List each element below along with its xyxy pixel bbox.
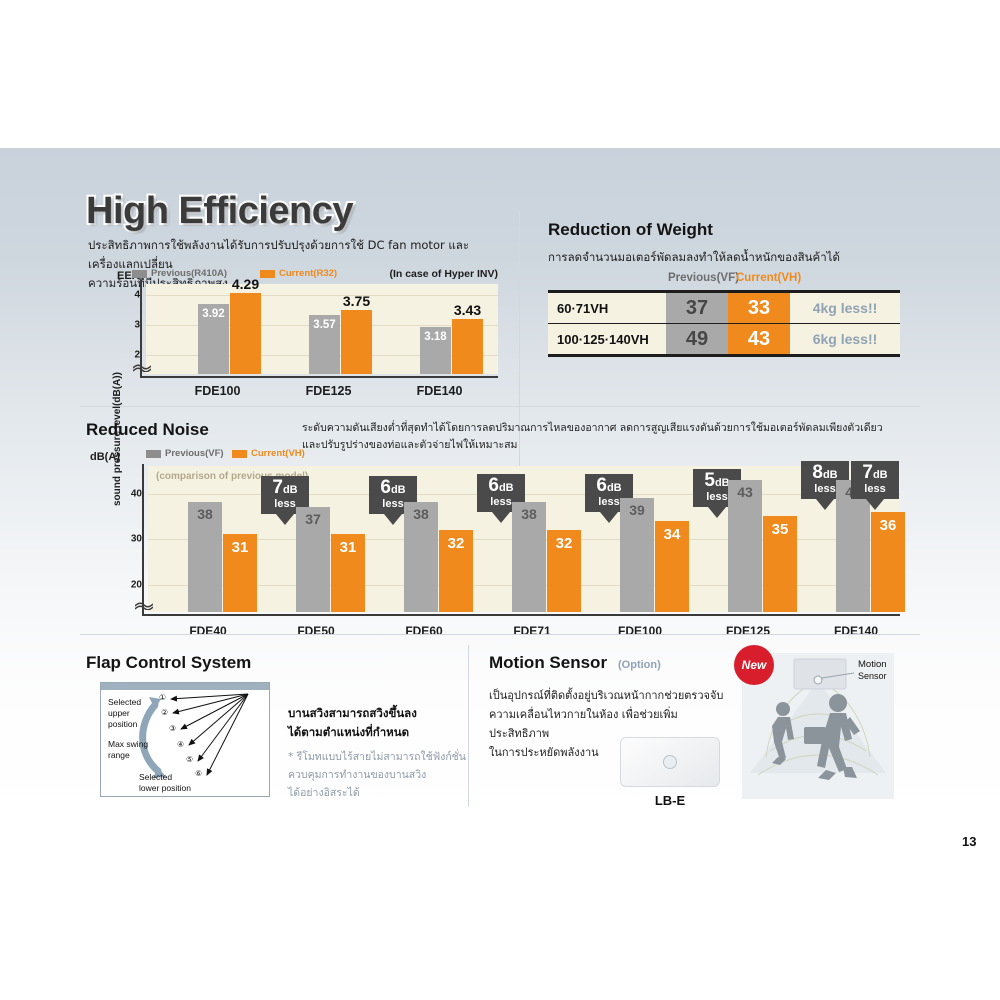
weight-model: 60·71VH — [548, 292, 666, 324]
weight-header-current: Current(VH) — [736, 272, 801, 284]
section-title-reduced-noise: Reduced Noise — [86, 420, 209, 440]
noise-bar-previous: 39 — [620, 498, 654, 612]
sensor-lens-icon — [663, 755, 677, 769]
badge-value: 8 — [812, 462, 823, 483]
reduced-noise-description: ระดับความดันเสียงต่ำที่สุดทำได้โดยการลดป… — [302, 420, 902, 454]
eer-note: (In case of Hyper INV) — [389, 268, 498, 280]
noise-y-axis-title: sound pressure level(dB(A)) — [112, 372, 123, 506]
weight-saving: 6kg less!! — [790, 324, 900, 356]
flap-note-line3: ได้อย่างอิสระได้ — [288, 784, 468, 802]
badge-tip-icon — [384, 514, 402, 525]
noise-bar-current: 32 — [547, 530, 581, 612]
eer-bar-group-fde100: 3.92 4.29 — [198, 293, 261, 374]
section-title-reduction-of-weight: Reduction of Weight — [548, 220, 713, 240]
weight-previous: 37 — [666, 292, 728, 324]
eer-bar-current: 3.43 — [452, 319, 483, 374]
flap-label-upper: Selectedupperposition — [108, 697, 141, 730]
noise-bar-previous: 43 — [728, 480, 762, 612]
noise-value-previous: 37 — [296, 511, 330, 527]
noise-value-current: 34 — [655, 526, 689, 543]
section-title-motion-sensor: Motion Sensor — [489, 653, 607, 673]
badge-value: 5 — [704, 470, 715, 491]
noise-value-previous: 38 — [188, 506, 222, 522]
badge-tip-icon — [816, 499, 834, 510]
new-badge: New — [734, 645, 774, 685]
weight-model: 100·125·140VH — [548, 324, 666, 356]
vertical-divider — [519, 210, 520, 500]
motion-sensor-desc-line1: เป็นอุปกรณ์ที่ติดตั้งอยู่บริเวณหน้ากากช่… — [489, 686, 729, 705]
noise-xlabel-fde50: FDE50 — [262, 624, 370, 638]
noise-bar-current: 35 — [763, 516, 797, 612]
noise-bar-previous: 38 — [404, 502, 438, 612]
noise-value-current: 35 — [763, 521, 797, 538]
motion-sensor-callout-line2: Sensor — [858, 671, 887, 681]
noise-value-current: 36 — [871, 517, 905, 534]
noise-ytick-30: 30 — [131, 534, 142, 545]
eer-legend-previous: Previous(R410A) — [132, 268, 227, 279]
noise-bar-current: 31 — [331, 534, 365, 612]
eer-bar-group-fde140: 3.18 3.43 — [420, 319, 483, 374]
badge-unit: dB — [499, 482, 514, 494]
badge-value: 7 — [272, 477, 283, 498]
reduced-noise-desc-line2: และปรับรูปร่างของท่อและตัวจ่ายไฟให้เหมาะ… — [302, 437, 902, 454]
noise-value-previous: 38 — [512, 506, 546, 522]
noise-plot-area: (comparison of previous model) 40 30 20 … — [148, 466, 900, 612]
noise-xlabel-fde125: FDE125 — [694, 624, 802, 638]
reduction-of-weight-description: การลดจำนวนมอเตอร์พัดลมลงทำให้ลดน้ำหนักขอ… — [548, 248, 888, 266]
noise-bar-group-fde125: 43 35 — [728, 480, 797, 612]
eer-value-current: 4.29 — [220, 276, 271, 292]
lbe-caption: LB-E — [620, 793, 720, 808]
noise-xlabel-fde40: FDE40 — [154, 624, 262, 638]
flap-note-line1: * รีโมทแบบไร้สายไม่สามารถใช้ฟังก์ชั่น — [288, 748, 468, 766]
eer-value-current: 3.43 — [442, 302, 493, 318]
noise-legend-current-label: Current(VH) — [251, 448, 305, 459]
noise-chart: sound pressure level(dB(A)) (comparison … — [118, 466, 900, 636]
eer-legend-previous-label: Previous(R410A) — [151, 268, 227, 279]
noise-bar-current: 34 — [655, 521, 689, 612]
flap-body-line2: ได้ตามตำแหน่งที่กำหนด — [288, 723, 468, 742]
eer-value-previous: 3.92 — [198, 308, 229, 320]
noise-reduction-badge-fde140: 7dB less — [851, 461, 899, 510]
flap-diagram: Selectedupperposition Max swingrange Sel… — [100, 682, 270, 797]
noise-xlabel-fde140: FDE140 — [802, 624, 910, 638]
badge-value: 6 — [596, 475, 607, 496]
legend-swatch-icon — [146, 450, 161, 458]
eer-chart: EER Previous(R410A) Current(R32) (In cas… — [118, 284, 498, 396]
noise-x-axis — [142, 614, 900, 616]
horizontal-divider — [80, 406, 920, 407]
flap-position-4: ④ — [177, 740, 184, 749]
table-row: 60·71VH 37 33 4kg less!! — [548, 292, 900, 324]
eer-legend-current: Current(R32) — [260, 268, 337, 279]
badge-unit: dB — [391, 484, 406, 496]
noise-bar-group-fde40: 38 31 — [188, 502, 257, 612]
badge-word: less — [851, 483, 899, 495]
badge-body: 7dB less — [851, 461, 899, 499]
eer-bar-previous: 3.18 — [420, 327, 451, 374]
noise-value-current: 32 — [547, 535, 581, 552]
eer-xlabel-fde125: FDE125 — [281, 384, 376, 398]
noise-ytick-40: 40 — [131, 488, 142, 499]
weight-current: 33 — [728, 292, 790, 324]
section-title-flap-control: Flap Control System — [86, 653, 251, 673]
eer-value-current: 3.75 — [331, 293, 382, 309]
flap-position-2: ② — [161, 708, 168, 717]
vertical-divider — [468, 645, 469, 807]
horizontal-divider — [80, 634, 920, 635]
noise-legend-previous: Previous(VF) — [146, 448, 224, 459]
eer-value-previous: 3.18 — [420, 331, 451, 343]
flap-position-3: ③ — [169, 724, 176, 733]
eer-bar-previous: 3.57 — [309, 315, 340, 374]
flap-label-max-swing: Max swingrange — [108, 739, 148, 761]
noise-bar-group-fde100: 39 34 — [620, 498, 689, 612]
eer-plot-area: 4 3 2 3.92 4.29 3.57 — [146, 284, 498, 374]
lbe-device-image — [620, 737, 720, 787]
weight-table: Previous(VF) Current(VH) 60·71VH 37 33 4… — [548, 272, 900, 357]
page-number: 13 — [962, 834, 976, 849]
motion-sensor-illustration: New Motion — [742, 653, 894, 799]
noise-bar-group-fde60: 38 32 — [404, 502, 473, 612]
badge-tip-icon — [708, 507, 726, 518]
noise-value-previous: 39 — [620, 502, 654, 518]
noise-xlabel-fde100: FDE100 — [586, 624, 694, 638]
reduced-noise-desc-line1: ระดับความดันเสียงต่ำที่สุดทำได้โดยการลดป… — [302, 420, 902, 437]
flap-position-1: ① — [159, 693, 166, 702]
noise-bar-current: 32 — [439, 530, 473, 612]
eer-xlabel-fde100: FDE100 — [170, 384, 265, 398]
eer-bar-current: 4.29 — [230, 293, 261, 374]
eer-bar-current: 3.75 — [341, 310, 372, 374]
eer-legend-current-label: Current(R32) — [279, 268, 337, 279]
eer-bar-previous: 3.92 — [198, 304, 229, 374]
table-row: 100·125·140VH 49 43 6kg less!! — [548, 324, 900, 356]
noise-value-current: 31 — [223, 539, 257, 556]
noise-bar-current: 31 — [223, 534, 257, 612]
eer-value-previous: 3.57 — [309, 319, 340, 331]
flap-body-line1: บานสวิงสามารถสวิงขึ้นลง — [288, 704, 468, 723]
motion-sensor-callout-line1: Motion — [858, 659, 887, 670]
page-title: High Efficiency — [86, 190, 353, 233]
noise-value-previous: 43 — [728, 484, 762, 500]
noise-y-axis — [142, 464, 144, 616]
flap-position-6: ⑥ — [195, 769, 202, 778]
noise-value-current: 32 — [439, 535, 473, 552]
noise-value-current: 31 — [331, 539, 365, 556]
badge-value: 7 — [862, 462, 873, 483]
axis-break-icon — [135, 599, 153, 610]
noise-xlabel-fde71: FDE71 — [478, 624, 586, 638]
flap-label-lower: Selectedlower position — [139, 772, 191, 794]
badge-unit: dB — [283, 484, 298, 496]
badge-tip-icon — [866, 499, 884, 510]
noise-bar-previous: 38 — [188, 502, 222, 612]
noise-value-previous: 38 — [404, 506, 438, 522]
badge-unit: dB — [873, 469, 888, 481]
badge-unit: dB — [607, 482, 622, 494]
noise-legend-current: Current(VH) — [232, 448, 305, 459]
motion-sensor-option-tag: (Option) — [618, 659, 661, 671]
noise-bar-previous: 37 — [296, 507, 330, 612]
flap-note-line2: ควบคุมการทำงานของบานสวิง — [288, 766, 468, 784]
weight-current: 43 — [728, 324, 790, 356]
noise-bar-current: 36 — [871, 512, 905, 612]
eer-bar-group-fde125: 3.57 3.75 — [309, 310, 372, 374]
brochure-page: High Efficiency ประสิทธิภาพการใช้พลังงาน… — [0, 148, 1000, 820]
weight-header-previous: Previous(VF) — [668, 272, 739, 284]
badge-value: 6 — [380, 477, 391, 498]
flap-control-copy: บานสวิงสามารถสวิงขึ้นลง ได้ตามตำแหน่งที่… — [288, 704, 468, 802]
axis-break-icon — [133, 361, 151, 372]
legend-swatch-icon — [132, 270, 147, 278]
legend-swatch-icon — [232, 450, 247, 458]
noise-bar-group-fde71: 38 32 — [512, 502, 581, 612]
weight-saving: 4kg less!! — [790, 292, 900, 324]
noise-legend-previous-label: Previous(VF) — [165, 448, 224, 459]
noise-bar-group-fde50: 37 31 — [296, 507, 365, 612]
badge-tip-icon — [276, 514, 294, 525]
flap-position-5: ⑤ — [186, 755, 193, 764]
eer-xlabel-fde140: FDE140 — [392, 384, 487, 398]
badge-tip-icon — [492, 512, 510, 523]
noise-xlabel-fde60: FDE60 — [370, 624, 478, 638]
badge-tip-icon — [600, 512, 618, 523]
eer-x-axis — [140, 376, 498, 378]
weight-table-grid: 60·71VH 37 33 4kg less!! 100·125·140VH 4… — [548, 290, 900, 357]
noise-bar-previous: 38 — [512, 502, 546, 612]
weight-table-headers: Previous(VF) Current(VH) — [548, 272, 900, 290]
noise-ytick-20: 20 — [131, 579, 142, 590]
weight-previous: 49 — [666, 324, 728, 356]
badge-value: 6 — [488, 475, 499, 496]
